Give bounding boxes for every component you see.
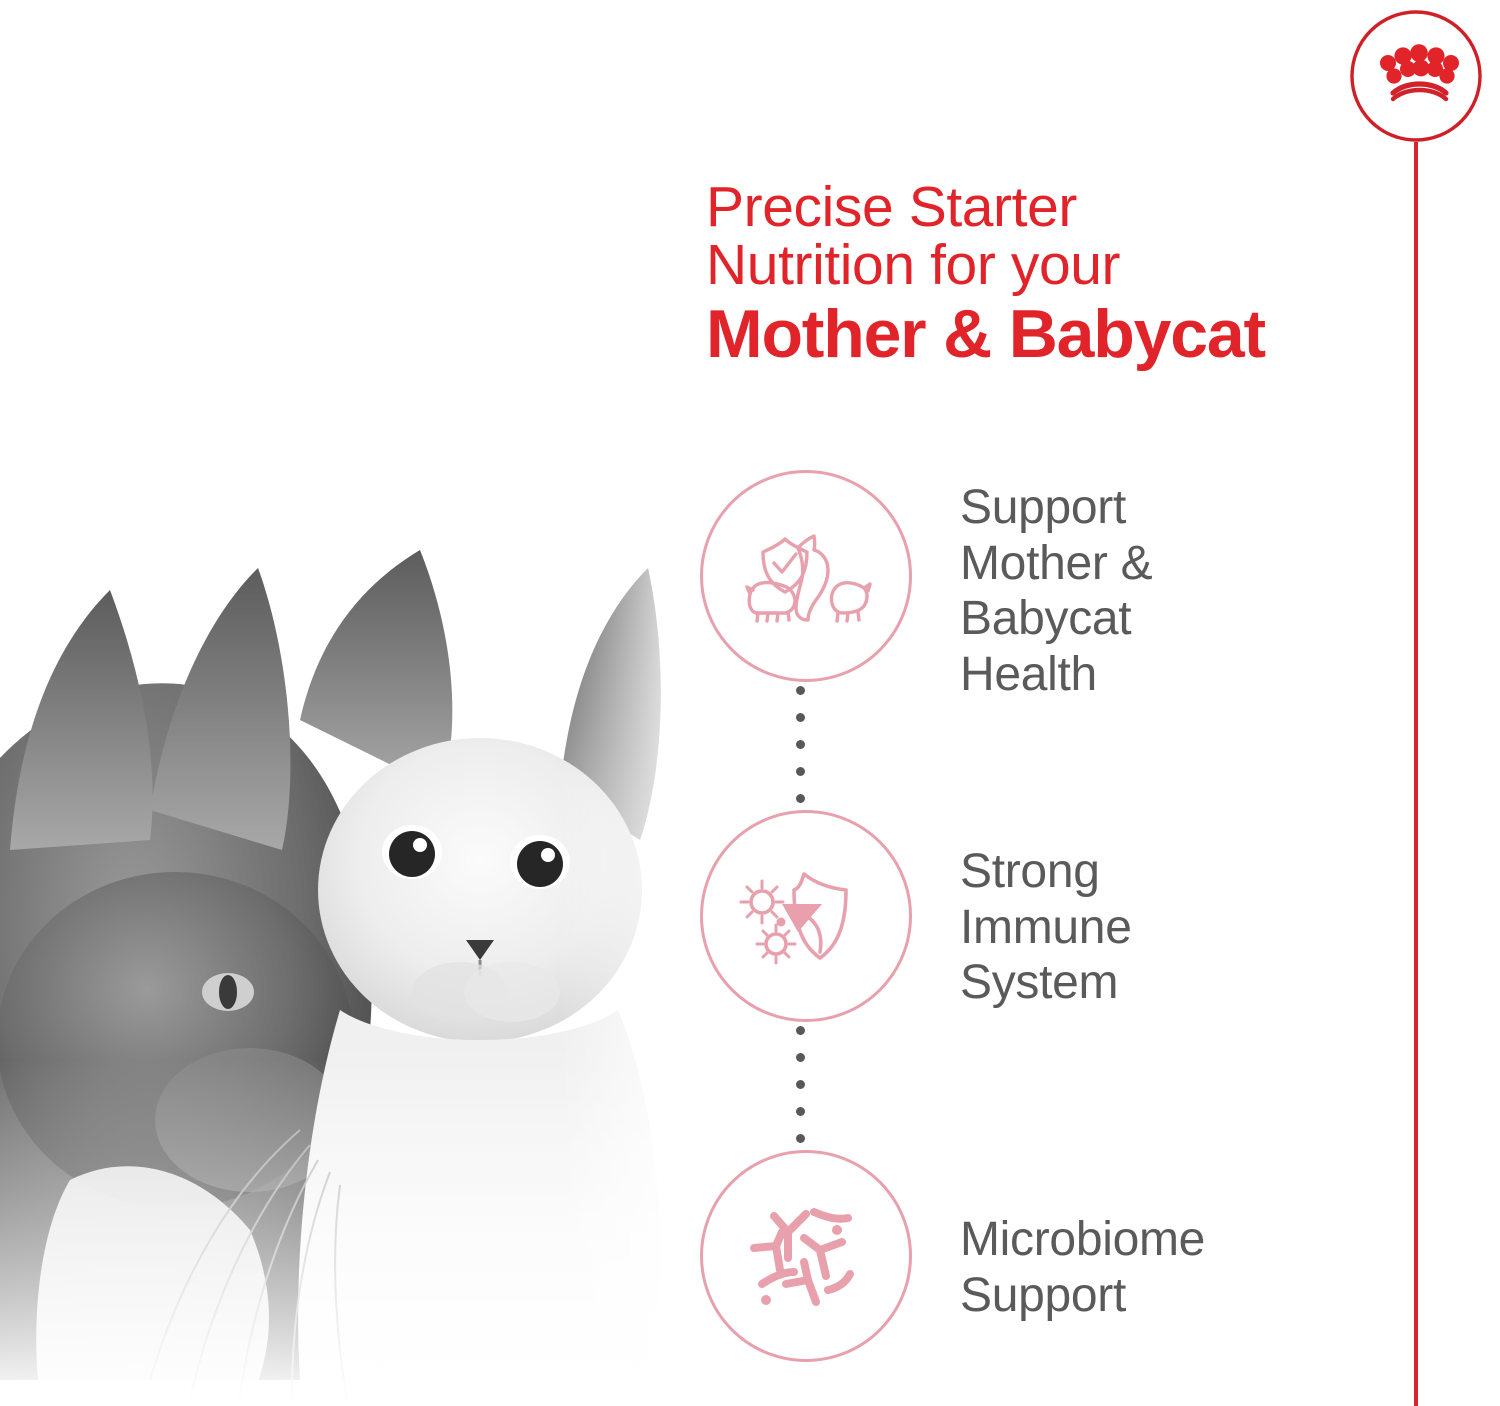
headline-line-1: Precise Starter: [706, 178, 1406, 236]
brand-vertical-rule: [1414, 142, 1418, 1406]
page-title: Precise Starter Nutrition for your Mothe…: [706, 178, 1406, 370]
benefit-label: Strong Immune System: [960, 810, 1320, 1011]
list-item: Microbiome Support: [700, 1150, 1320, 1380]
cat-photo: [0, 250, 700, 1406]
product-feature-panel: Precise Starter Nutrition for your Mothe…: [0, 0, 1500, 1406]
benefit-label: Microbiome Support: [960, 1150, 1320, 1323]
list-item: Support Mother & Babycat Health: [700, 470, 1320, 810]
headline-line-3: Mother & Babycat: [706, 300, 1406, 369]
shield-virus-block-icon: [700, 810, 912, 1022]
benefit-label: Support Mother & Babycat Health: [960, 470, 1320, 703]
list-item: Strong Immune System: [700, 810, 1320, 1150]
microbiome-antibody-icon: [700, 1150, 912, 1362]
dotted-connector-icon: [795, 686, 805, 808]
royal-canin-crown-icon: [1348, 8, 1484, 144]
shield-check-cat-family-icon: [700, 470, 912, 682]
benefit-list: Support Mother & Babycat Health: [700, 470, 1320, 1380]
dotted-connector-icon: [795, 1026, 805, 1148]
headline-line-2: Nutrition for your: [706, 236, 1406, 294]
